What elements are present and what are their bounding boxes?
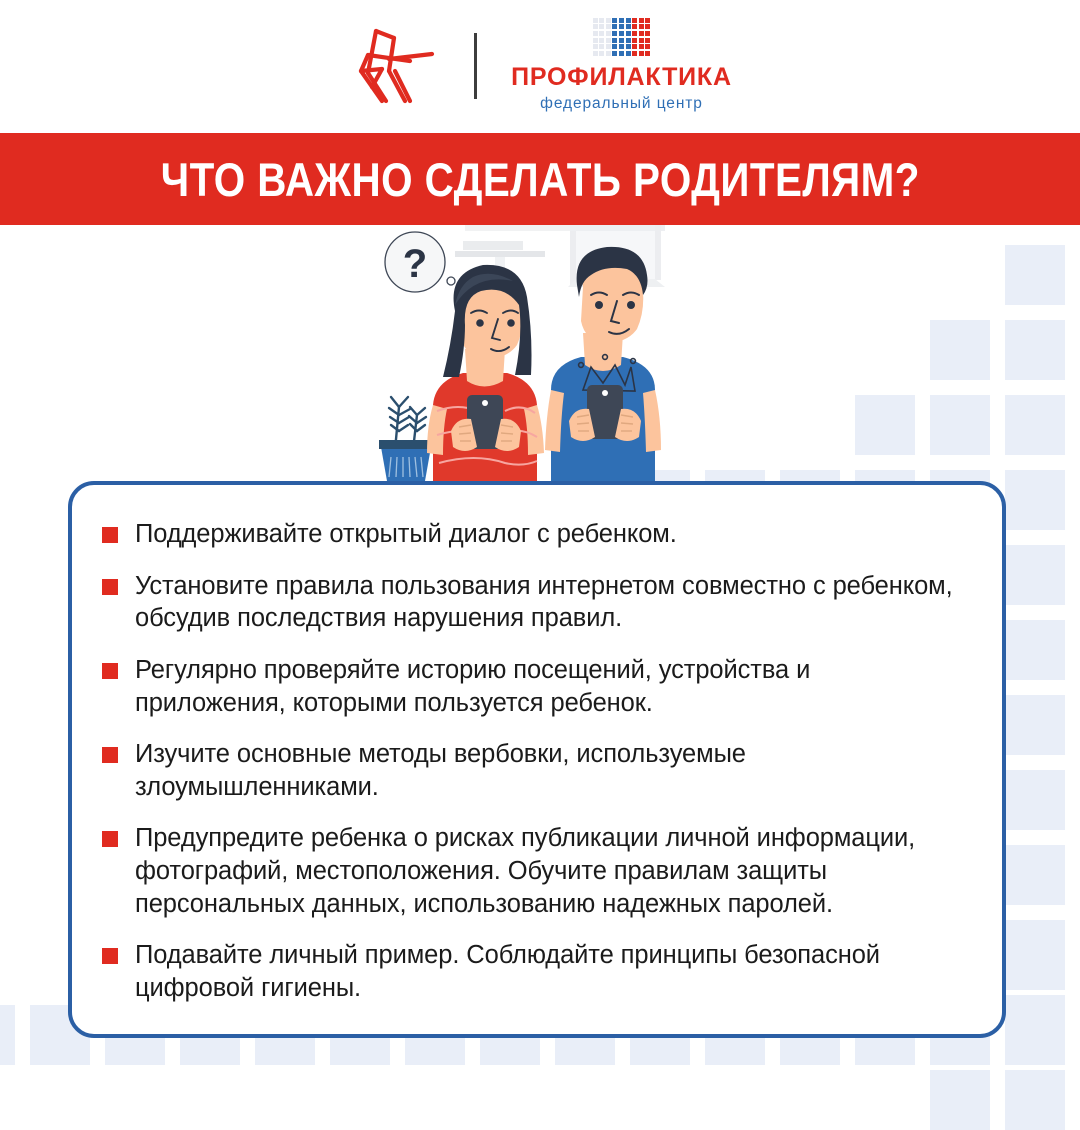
- background-square: [930, 1070, 990, 1130]
- background-square: [855, 395, 915, 455]
- brand-pixel: [645, 24, 650, 29]
- brand-pixel: [606, 44, 611, 49]
- brand-pixel: [626, 51, 631, 56]
- brand-pixel: [612, 38, 617, 43]
- brand-pixel: [632, 18, 637, 23]
- brand-pixel: [612, 51, 617, 56]
- brand-pixel: [645, 44, 650, 49]
- background-square: [930, 395, 990, 455]
- background-square: [1005, 545, 1065, 605]
- background-square: [1005, 995, 1065, 1055]
- brand-pixel: [632, 44, 637, 49]
- background-square: [1005, 930, 1065, 990]
- brand-pixel: [593, 24, 598, 29]
- tip-text: Установите правила пользования интернето…: [135, 570, 962, 635]
- tip-text: Регулярно проверяйте историю посещений, …: [135, 654, 962, 719]
- brand-pixel: [626, 31, 631, 36]
- brand-pixel: [632, 24, 637, 29]
- brand-pixel: [612, 31, 617, 36]
- brand-subtitle: федеральный центр: [540, 95, 703, 114]
- thought-bubble-icon: ?: [385, 232, 455, 292]
- brand-pixel: [606, 31, 611, 36]
- background-square: [1005, 1070, 1065, 1130]
- brand-pixel: [606, 51, 611, 56]
- brand-pixel: [606, 38, 611, 43]
- brand-pixel: [632, 51, 637, 56]
- background-square: [1005, 620, 1065, 680]
- brand-pixel: [599, 31, 604, 36]
- brand-pixel: [645, 38, 650, 43]
- background-square: [1005, 245, 1065, 305]
- tip-text: Изучите основные методы вербовки, исполь…: [135, 738, 962, 803]
- list-item: Поддерживайте открытый диалог с ребенком…: [102, 518, 962, 551]
- tips-card: Поддерживайте открытый диалог с ребенком…: [68, 481, 1006, 1038]
- background-square: [1005, 770, 1065, 830]
- background-square: [1005, 395, 1065, 455]
- brand-pixel: [593, 31, 598, 36]
- background-square: [1005, 470, 1065, 530]
- bullet-square-icon: [102, 527, 118, 543]
- figure-boy: [545, 247, 661, 494]
- background-square: [1005, 320, 1065, 380]
- list-item: Изучите основные методы вербовки, исполь…: [102, 738, 962, 803]
- brand-pixel: [619, 44, 624, 49]
- brand-pixel: [612, 24, 617, 29]
- bullet-square-icon: [102, 579, 118, 595]
- brand-pixel: [639, 38, 644, 43]
- background-square: [0, 1005, 15, 1065]
- brand-pixel: [619, 38, 624, 43]
- logo-divider: [474, 33, 477, 99]
- brand-name: ПРОФИЛАКТИКА: [511, 65, 732, 90]
- list-item: Подавайте личный пример. Соблюдайте прин…: [102, 939, 962, 1004]
- brand-pixel: [612, 44, 617, 49]
- brand-pixel: [626, 24, 631, 29]
- brand-pixel: [639, 31, 644, 36]
- brand-pixel: [639, 44, 644, 49]
- brand-pixel: [645, 31, 650, 36]
- bullet-square-icon: [102, 663, 118, 679]
- brand-pixel: [632, 38, 637, 43]
- tip-text: Предупредите ребенка о рисках публикации…: [135, 822, 962, 920]
- list-item: Установите правила пользования интернето…: [102, 570, 962, 635]
- bullet-square-icon: [102, 948, 118, 964]
- brand-block: ПРОФИЛАКТИКА федеральный центр: [511, 18, 732, 114]
- brand-pixel: [632, 31, 637, 36]
- brand-pixel: [626, 44, 631, 49]
- brand-pixel: [619, 51, 624, 56]
- brand-pixel: [619, 31, 624, 36]
- brand-pixel: [606, 18, 611, 23]
- tip-text: Поддерживайте открытый диалог с ребенком…: [135, 518, 677, 551]
- brand-pixel: [639, 18, 644, 23]
- illustration-teen-and-parent-with-smartphones: ?: [355, 225, 705, 495]
- brand-pixel: [639, 51, 644, 56]
- brand-pixel: [619, 18, 624, 23]
- svg-text:?: ?: [403, 242, 427, 286]
- background-square: [1005, 1005, 1065, 1065]
- tips-list: Поддерживайте открытый диалог с ребенком…: [102, 518, 962, 1005]
- brand-pixel: [606, 24, 611, 29]
- brand-pixel: [599, 38, 604, 43]
- brand-pixel: [639, 24, 644, 29]
- bullet-square-icon: [102, 831, 118, 847]
- bullet-square-icon: [102, 747, 118, 763]
- brand-pixel: [612, 18, 617, 23]
- brand-pixel-grid-icon: [593, 18, 651, 56]
- brand-pixel: [593, 18, 598, 23]
- background-square: [1005, 920, 1065, 980]
- page-title: ЧТО ВАЖНО СДЕЛАТЬ РОДИТЕЛЯМ?: [160, 152, 919, 207]
- brand-pixel: [645, 51, 650, 56]
- figure-girl: [427, 265, 544, 494]
- chair-outline-logo: [348, 25, 440, 107]
- brand-pixel: [593, 44, 598, 49]
- brand-pixel: [619, 24, 624, 29]
- brand-pixel: [599, 24, 604, 29]
- list-item: Регулярно проверяйте историю посещений, …: [102, 654, 962, 719]
- brand-pixel: [599, 18, 604, 23]
- background-square: [930, 320, 990, 380]
- tip-text: Подавайте личный пример. Соблюдайте прин…: [135, 939, 962, 1004]
- brand-pixel: [593, 38, 598, 43]
- background-square: [1005, 845, 1065, 905]
- brand-pixel: [599, 51, 604, 56]
- logo-bar: ПРОФИЛАКТИКА федеральный центр: [0, 0, 1080, 131]
- title-banner: ЧТО ВАЖНО СДЕЛАТЬ РОДИТЕЛЯМ?: [0, 133, 1080, 225]
- brand-pixel: [626, 18, 631, 23]
- brand-pixel: [645, 18, 650, 23]
- brand-pixel: [599, 44, 604, 49]
- brand-pixel: [593, 51, 598, 56]
- background-square: [1005, 695, 1065, 755]
- brand-pixel: [626, 38, 631, 43]
- list-item: Предупредите ребенка о рисках публикации…: [102, 822, 962, 920]
- potted-plant: [379, 397, 433, 481]
